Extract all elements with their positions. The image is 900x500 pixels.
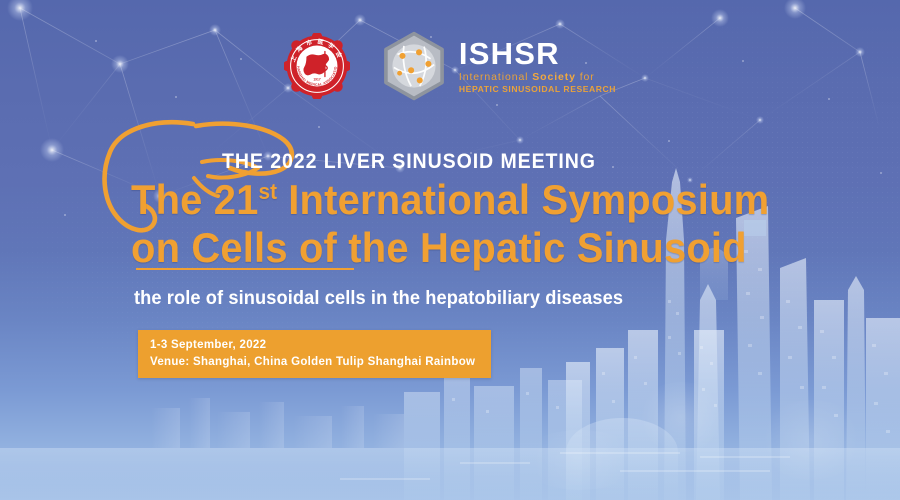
shanghai-medical-association-seal: 上海市医学会 SHANGHAI MEDICAL ASSOCIATION 1917	[284, 33, 350, 99]
eyebrow-text: THE 2022 LIVER SINUSOID MEETING	[222, 150, 596, 174]
ishsr-hexagon-network-mark	[378, 30, 450, 102]
tagline-text: the role of sinusoidal cells in the hepa…	[134, 288, 623, 310]
skyline-glow	[756, 400, 866, 480]
ishsr-title: ISHSR	[459, 38, 616, 69]
title-line-1-post: International Symposium	[277, 176, 769, 223]
ordinal-suffix: st	[259, 179, 277, 204]
skyline-glow	[636, 382, 726, 452]
ishsr-subtitle-line2: HEPATIC SINUSOIDAL RESEARCH	[459, 85, 616, 94]
logo-row: 上海市医学会 SHANGHAI MEDICAL ASSOCIATION 1917	[0, 30, 900, 102]
title-line-1: The 21st International Symposium	[131, 176, 769, 224]
title-line-2: on Cells of the Hepatic Sinusoid	[131, 224, 747, 272]
ishsr-subtitle-prefix: International	[459, 71, 532, 83]
skyline-glow	[520, 430, 640, 490]
svg-text:1917: 1917	[313, 78, 321, 82]
event-date: 1-3 September, 2022	[150, 337, 475, 354]
conference-banner: 上海市医学会 SHANGHAI MEDICAL ASSOCIATION 1917	[0, 0, 900, 500]
ishsr-subtitle-line1: International Society for	[459, 72, 616, 83]
title-line-1-pre: The 21	[131, 176, 259, 223]
title-underline-rule	[136, 268, 354, 270]
event-venue: Venue: Shanghai, China Golden Tulip Shan…	[150, 354, 475, 371]
ishsr-subtitle-emphasis: Society	[532, 71, 576, 83]
date-venue-box: 1-3 September, 2022 Venue: Shanghai, Chi…	[138, 330, 491, 378]
ishsr-subtitle-suffix: for	[576, 71, 595, 83]
ishsr-logo: ISHSR International Society for HEPATIC …	[378, 30, 616, 102]
